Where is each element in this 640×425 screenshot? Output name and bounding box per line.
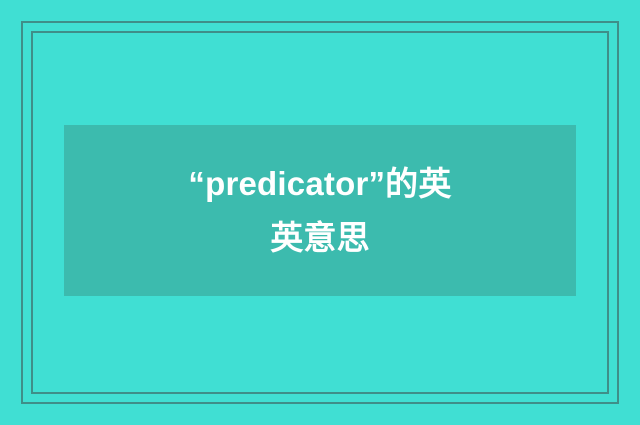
headline-text: “predicator”的英英意思 <box>185 157 455 264</box>
card-root: “predicator”的英英意思 <box>0 0 640 425</box>
headline-panel: “predicator”的英英意思 <box>64 125 576 296</box>
